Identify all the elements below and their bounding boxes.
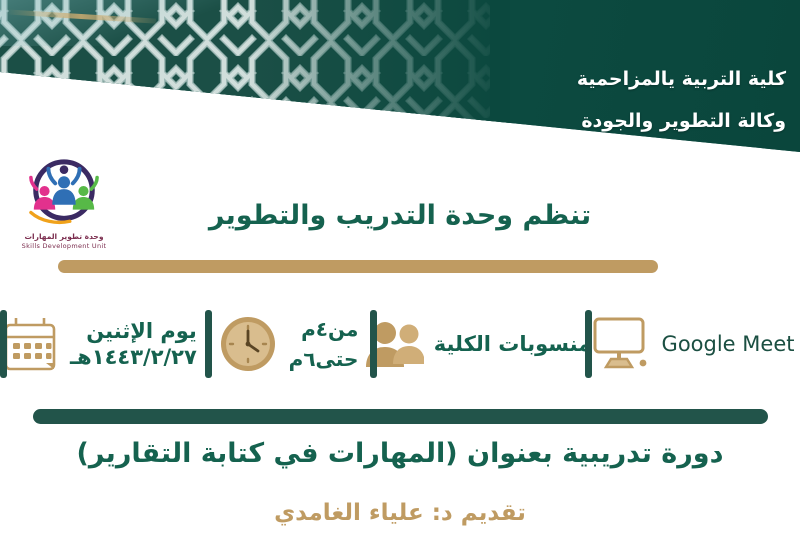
event-time-cell: من٤م حتى٦م — [205, 313, 370, 375]
college-name-label: كلية التربية يالمزاحمية — [577, 70, 786, 90]
organizer-label: تنظم وحدة التدريب والتطوير — [190, 200, 610, 231]
header-text-group: كلية التربية يالمزاحمية وكالة التطوير وا… — [577, 70, 786, 132]
cell-divider — [0, 310, 7, 378]
event-details-row: يوم الإثنين ١٤٤٣/٢/٢٧هـ من٤م حتى٦م — [0, 292, 800, 396]
event-date-cell: يوم الإثنين ١٤٤٣/٢/٢٧هـ — [0, 313, 205, 375]
event-platform-label: Google Meet — [662, 331, 795, 357]
skills-development-unit-logo: وحدة تطوير المهارات Skills Development U… — [8, 158, 120, 251]
time-to-label: حتى٦م — [289, 344, 359, 374]
green-divider-bar-bottom — [33, 409, 768, 424]
desktop-monitor-icon — [586, 313, 652, 375]
header-banner: كلية التربية يالمزاحمية وكالة التطوير وا… — [0, 0, 800, 172]
event-audience-label: منسوبات الكلية — [434, 331, 591, 357]
event-hijri-date-label: ١٤٤٣/٢/٢٧هـ — [70, 344, 197, 370]
agency-name-label: وكالة التطوير والجودة — [577, 112, 786, 132]
event-platform-cell: Google Meet — [585, 313, 795, 375]
gold-divider-bar-top — [58, 260, 658, 273]
cell-divider — [585, 310, 592, 378]
pattern-fade-overlay — [250, 0, 510, 172]
training-course-poster: كلية التربية يالمزاحمية وكالة التطوير وا… — [0, 0, 800, 560]
event-time-text: من٤م حتى٦م — [289, 314, 359, 374]
presenter-label: تقديم د: علياء الغامدي — [0, 500, 800, 526]
event-day-label: يوم الإثنين — [70, 318, 197, 344]
cell-divider — [205, 310, 212, 378]
logo-caption-english: Skills Development Unit — [8, 242, 120, 251]
clock-icon — [217, 313, 279, 375]
cell-divider — [370, 310, 377, 378]
header-highlight-sheen — [0, 0, 220, 46]
event-audience-cell: منسوبات الكلية — [370, 317, 585, 371]
skills-development-unit-logo-icon — [14, 158, 114, 232]
event-date-text: يوم الإثنين ١٤٤٣/٢/٢٧هـ — [70, 318, 197, 371]
course-title-label: دورة تدريبية بعنوان (المهارات في كتابة ا… — [0, 438, 800, 469]
time-from-label: من٤م — [289, 314, 359, 344]
logo-caption-arabic: وحدة تطوير المهارات — [8, 232, 120, 242]
calendar-icon — [0, 313, 60, 375]
